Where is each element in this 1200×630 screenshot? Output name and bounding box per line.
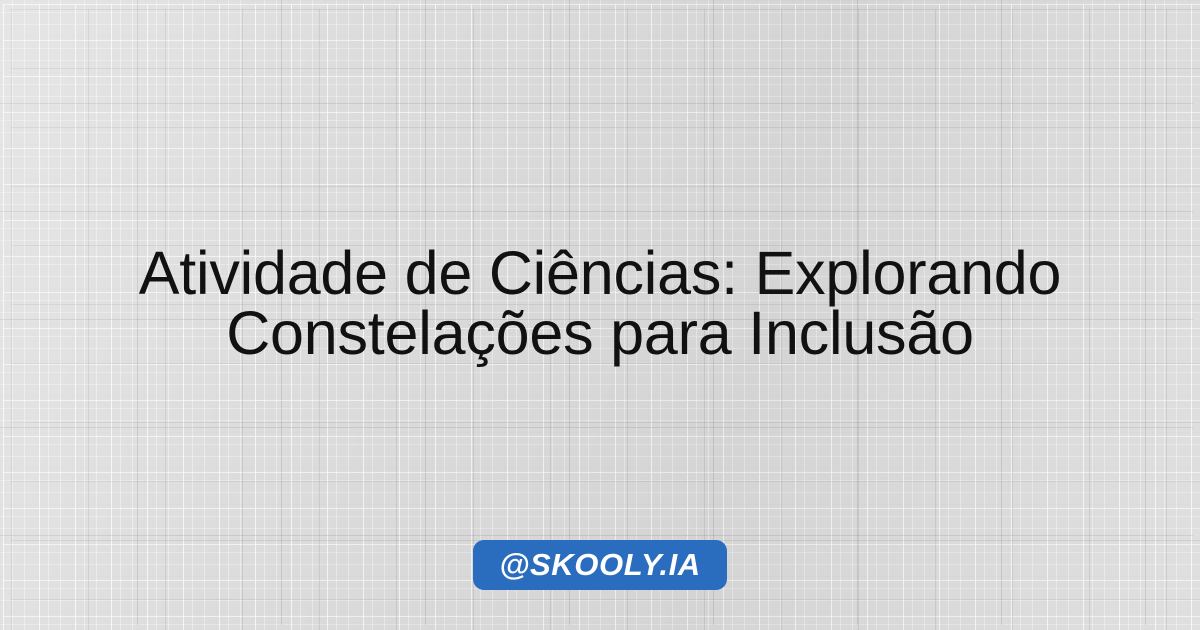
- brand-badge-container: @SKOOLY.IA: [0, 540, 1200, 590]
- brand-badge: @SKOOLY.IA: [473, 540, 727, 590]
- page-title: Atividade de Ciências: ExplorandoConstel…: [60, 243, 1140, 363]
- page-title-line-1: Atividade de Ciências: Explorando: [139, 239, 1062, 307]
- page-title-line-2: Constelações para Inclusão: [226, 299, 974, 367]
- card-content: Atividade de Ciências: ExplorandoConstel…: [0, 0, 1200, 630]
- social-card: Atividade de Ciências: ExplorandoConstel…: [0, 0, 1200, 630]
